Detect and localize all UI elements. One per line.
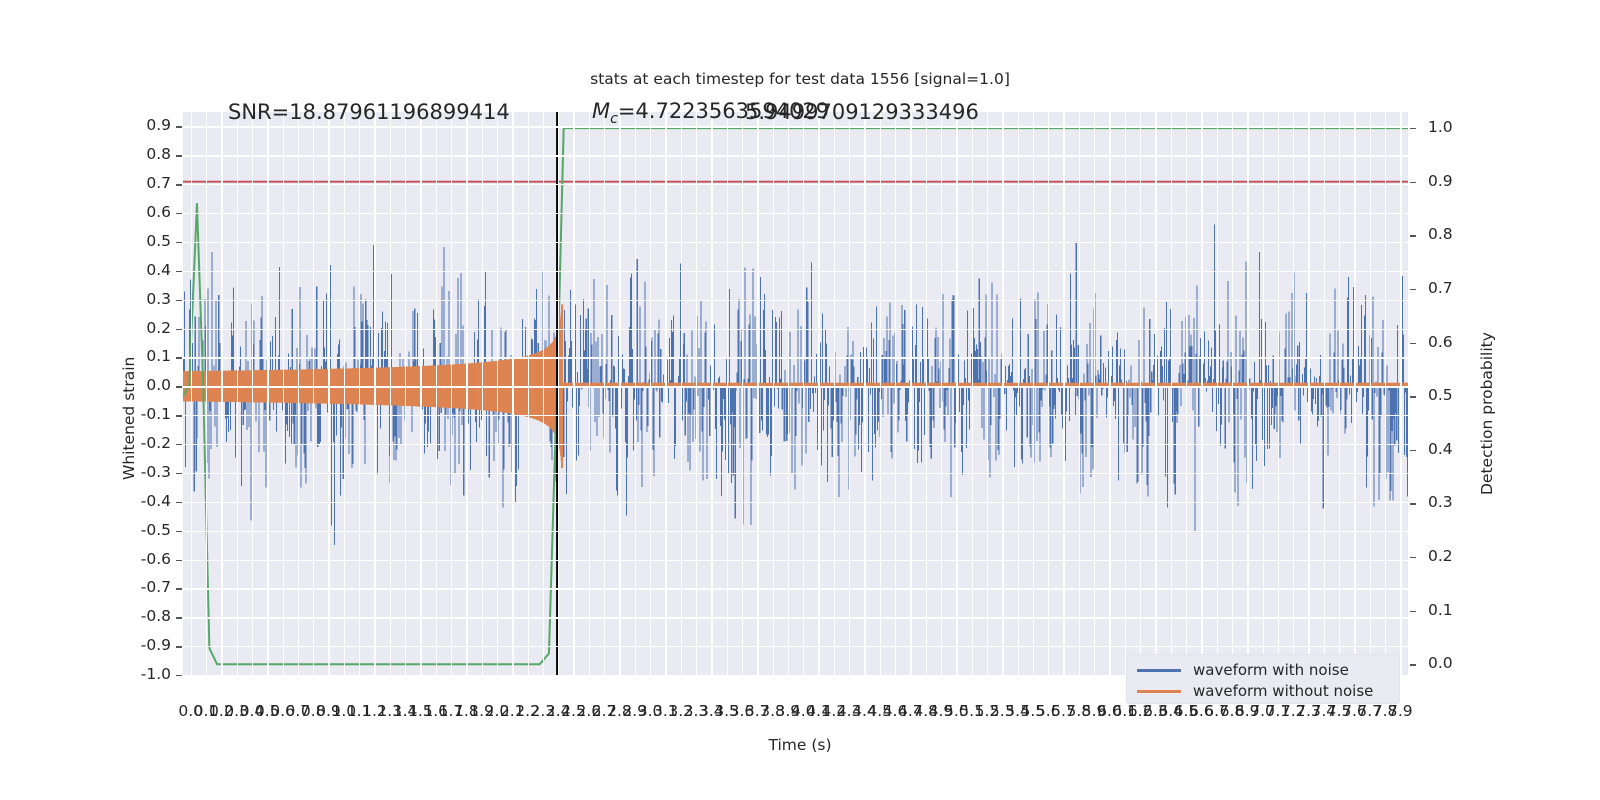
gridline-vertical — [864, 112, 865, 675]
y-tick-mark-right — [1410, 450, 1416, 451]
gridline-vertical — [1125, 112, 1126, 675]
y-tick-mark-right — [1410, 182, 1416, 183]
gridline-horizontal — [183, 473, 1408, 474]
y-tick-label-left: -0.8 — [141, 607, 171, 625]
gridline-vertical — [1339, 112, 1340, 675]
y-tick-mark-right — [1410, 396, 1416, 397]
gridline-vertical — [711, 112, 712, 675]
y-axis-left-label: Whitened strain — [120, 357, 138, 480]
gridline-vertical — [328, 112, 329, 675]
y-tick-mark-left — [176, 242, 182, 243]
gridline-horizontal — [183, 271, 1408, 272]
gridline-vertical — [1308, 112, 1309, 675]
y-tick-mark-left — [176, 560, 182, 561]
y-tick-mark-right — [1410, 128, 1416, 129]
gridline-vertical — [436, 112, 437, 675]
y-tick-label-left: -0.7 — [141, 578, 171, 596]
y-tick-mark-left — [176, 386, 182, 387]
x-axis-label: Time (s) — [0, 736, 1600, 754]
gridline-vertical — [267, 112, 268, 675]
y-tick-label-left: 0.5 — [146, 232, 171, 250]
y-tick-label-right: 0.1 — [1428, 601, 1453, 619]
gridline-vertical — [344, 112, 345, 675]
y-tick-label-left: -0.4 — [141, 492, 171, 510]
y-tick-mark-right — [1410, 611, 1416, 612]
chart-title: stats at each timestep for test data 155… — [0, 70, 1600, 88]
y-tick-label-left: 0.7 — [146, 174, 171, 192]
gridline-vertical — [1094, 112, 1095, 675]
gridline-horizontal — [183, 444, 1408, 445]
snr-annotation: SNR=18.87961196899414 — [228, 100, 510, 124]
gridline-vertical — [1033, 112, 1034, 675]
y-tick-label-right: 0.9 — [1428, 172, 1453, 190]
gridline-vertical — [206, 112, 207, 675]
gridline-vertical — [681, 112, 682, 675]
y-tick-mark-left — [176, 155, 182, 156]
y-tick-mark-right — [1410, 664, 1416, 665]
legend-label: waveform without noise — [1193, 682, 1373, 700]
gridline-horizontal — [183, 386, 1408, 387]
gridline-vertical — [1002, 112, 1003, 675]
gridline-vertical — [466, 112, 467, 675]
legend-swatch — [1137, 690, 1181, 693]
gridline-vertical — [1354, 112, 1355, 675]
gridline-vertical — [298, 112, 299, 675]
gridline-horizontal — [183, 184, 1408, 185]
gridline-vertical — [589, 112, 590, 675]
gridline-horizontal — [183, 415, 1408, 416]
y-tick-mark-left — [176, 444, 182, 445]
gridline-vertical — [558, 112, 559, 675]
chirp-mass-symbol: M — [592, 99, 610, 123]
y-tick-mark-left — [176, 213, 182, 214]
gridline-vertical — [1155, 112, 1156, 675]
y-tick-mark-left — [176, 184, 182, 185]
gridline-horizontal — [183, 155, 1408, 156]
y-tick-mark-left — [176, 646, 182, 647]
gridline-vertical — [1232, 112, 1233, 675]
gridline-vertical — [910, 112, 911, 675]
gridline-vertical — [987, 112, 988, 675]
gridline-vertical — [788, 112, 789, 675]
y-tick-mark-left — [176, 588, 182, 589]
y-tick-mark-left — [176, 126, 182, 127]
y-tick-label-right: 1.0 — [1428, 118, 1453, 136]
gridline-vertical — [619, 112, 620, 675]
gridline-vertical — [482, 112, 483, 675]
gridline-vertical — [818, 112, 819, 675]
y-tick-label-right: 0.0 — [1428, 654, 1453, 672]
gridline-vertical — [1079, 112, 1080, 675]
y-tick-mark-left — [176, 415, 182, 416]
gridline-vertical — [880, 112, 881, 675]
gridline-vertical — [1186, 112, 1187, 675]
gridline-vertical — [956, 112, 957, 675]
y-tick-label-right: 0.8 — [1428, 225, 1453, 243]
plot-area — [183, 112, 1408, 675]
y-tick-label-left: 0.3 — [146, 290, 171, 308]
gridline-vertical — [1217, 112, 1218, 675]
gridline-vertical — [941, 112, 942, 675]
gridline-vertical — [696, 112, 697, 675]
gridline-vertical — [849, 112, 850, 675]
legend-swatch — [1137, 669, 1181, 672]
y-tick-label-left: -0.5 — [141, 521, 171, 539]
y-tick-label-left: -0.6 — [141, 550, 171, 568]
y-tick-mark-left — [176, 300, 182, 301]
legend: waveform with noisewaveform without nois… — [1126, 654, 1400, 704]
gridline-vertical — [1201, 112, 1202, 675]
y-tick-label-left: 0.4 — [146, 261, 171, 279]
y-tick-mark-right — [1410, 557, 1416, 558]
y-tick-label-right: 0.6 — [1428, 333, 1453, 351]
y-tick-mark-left — [176, 617, 182, 618]
gridline-vertical — [1109, 112, 1110, 675]
gridline-vertical — [451, 112, 452, 675]
gridline-vertical — [313, 112, 314, 675]
gridline-horizontal — [183, 560, 1408, 561]
gridline-vertical — [895, 112, 896, 675]
gridline-vertical — [420, 112, 421, 675]
gridline-vertical — [727, 112, 728, 675]
gridline-vertical — [283, 112, 284, 675]
gridline-vertical — [1140, 112, 1141, 675]
y-tick-label-left: -0.3 — [141, 463, 171, 481]
gridline-vertical — [650, 112, 651, 675]
gridline-vertical — [405, 112, 406, 675]
gridline-vertical — [834, 112, 835, 675]
x-tick-label: 7.9 — [1388, 702, 1413, 720]
y-tick-mark-left — [176, 357, 182, 358]
gridline-vertical — [635, 112, 636, 675]
gridline-vertical — [237, 112, 238, 675]
gridline-vertical — [543, 112, 544, 675]
y-tick-mark-left — [176, 502, 182, 503]
gridline-vertical — [1263, 112, 1264, 675]
data-curves — [183, 112, 1408, 675]
gridline-horizontal — [183, 300, 1408, 301]
legend-label: waveform with noise — [1193, 661, 1349, 679]
y-tick-label-left: 0.2 — [146, 319, 171, 337]
gridline-vertical — [1048, 112, 1049, 675]
y-tick-label-left: -0.2 — [141, 434, 171, 452]
y-tick-mark-left — [176, 675, 182, 676]
gridline-vertical — [1247, 112, 1248, 675]
gridline-vertical — [1324, 112, 1325, 675]
gridline-horizontal — [183, 588, 1408, 589]
gridline-horizontal — [183, 242, 1408, 243]
gridline-horizontal — [183, 646, 1408, 647]
y-tick-label-left: -1.0 — [141, 665, 171, 683]
gridline-vertical — [773, 112, 774, 675]
y-tick-label-left: 0.1 — [146, 347, 171, 365]
gridline-vertical — [1171, 112, 1172, 675]
gridline-horizontal — [183, 502, 1408, 503]
gridline-horizontal — [183, 329, 1408, 330]
gridline-vertical — [757, 112, 758, 675]
y-axis-right-label: Detection probability — [1478, 332, 1496, 495]
y-tick-mark-right — [1410, 343, 1416, 344]
y-tick-label-left: 0.6 — [146, 203, 171, 221]
y-tick-label-left: -0.1 — [141, 405, 171, 423]
gridline-vertical — [390, 112, 391, 675]
y-tick-label-left: 0.0 — [146, 376, 171, 394]
gridline-vertical — [191, 112, 192, 675]
gridline-vertical — [926, 112, 927, 675]
gridline-vertical — [604, 112, 605, 675]
gridline-vertical — [528, 112, 529, 675]
gridline-vertical — [573, 112, 574, 675]
gridline-vertical — [1400, 112, 1401, 675]
gridline-vertical — [497, 112, 498, 675]
gridline-vertical — [1063, 112, 1064, 675]
gridline-vertical — [512, 112, 513, 675]
y-tick-label-right: 0.5 — [1428, 386, 1453, 404]
y-tick-mark-left — [176, 329, 182, 330]
gridline-vertical — [972, 112, 973, 675]
gridline-vertical — [1385, 112, 1386, 675]
gridline-vertical — [665, 112, 666, 675]
y-tick-mark-left — [176, 473, 182, 474]
gridline-vertical — [803, 112, 804, 675]
y-tick-label-left: 0.8 — [146, 145, 171, 163]
y-tick-mark-left — [176, 531, 182, 532]
gridline-vertical — [221, 112, 222, 675]
y-tick-label-right: 0.3 — [1428, 493, 1453, 511]
gridline-vertical — [252, 112, 253, 675]
gridline-vertical — [359, 112, 360, 675]
figure-canvas: stats at each timestep for test data 155… — [0, 0, 1600, 800]
y-tick-label-right: 0.2 — [1428, 547, 1453, 565]
chirp-mass-subscript: c — [610, 111, 618, 127]
gridline-vertical — [1370, 112, 1371, 675]
y-tick-mark-right — [1410, 289, 1416, 290]
gridline-horizontal — [183, 357, 1408, 358]
gridline-horizontal — [183, 531, 1408, 532]
gridline-vertical — [742, 112, 743, 675]
gridline-horizontal — [183, 213, 1408, 214]
gridline-vertical — [374, 112, 375, 675]
overlapping-annotation: 5.9499709129333496 — [745, 100, 979, 124]
y-tick-mark-right — [1410, 503, 1416, 504]
y-tick-label-right: 0.4 — [1428, 440, 1453, 458]
y-tick-mark-left — [176, 271, 182, 272]
gridline-horizontal — [183, 617, 1408, 618]
gridline-vertical — [1018, 112, 1019, 675]
y-tick-label-left: -0.9 — [141, 636, 171, 654]
y-tick-mark-right — [1410, 235, 1416, 236]
y-tick-label-right: 0.7 — [1428, 279, 1453, 297]
gridline-vertical — [1293, 112, 1294, 675]
y-tick-label-left: 0.9 — [146, 116, 171, 134]
gridline-vertical — [1278, 112, 1279, 675]
